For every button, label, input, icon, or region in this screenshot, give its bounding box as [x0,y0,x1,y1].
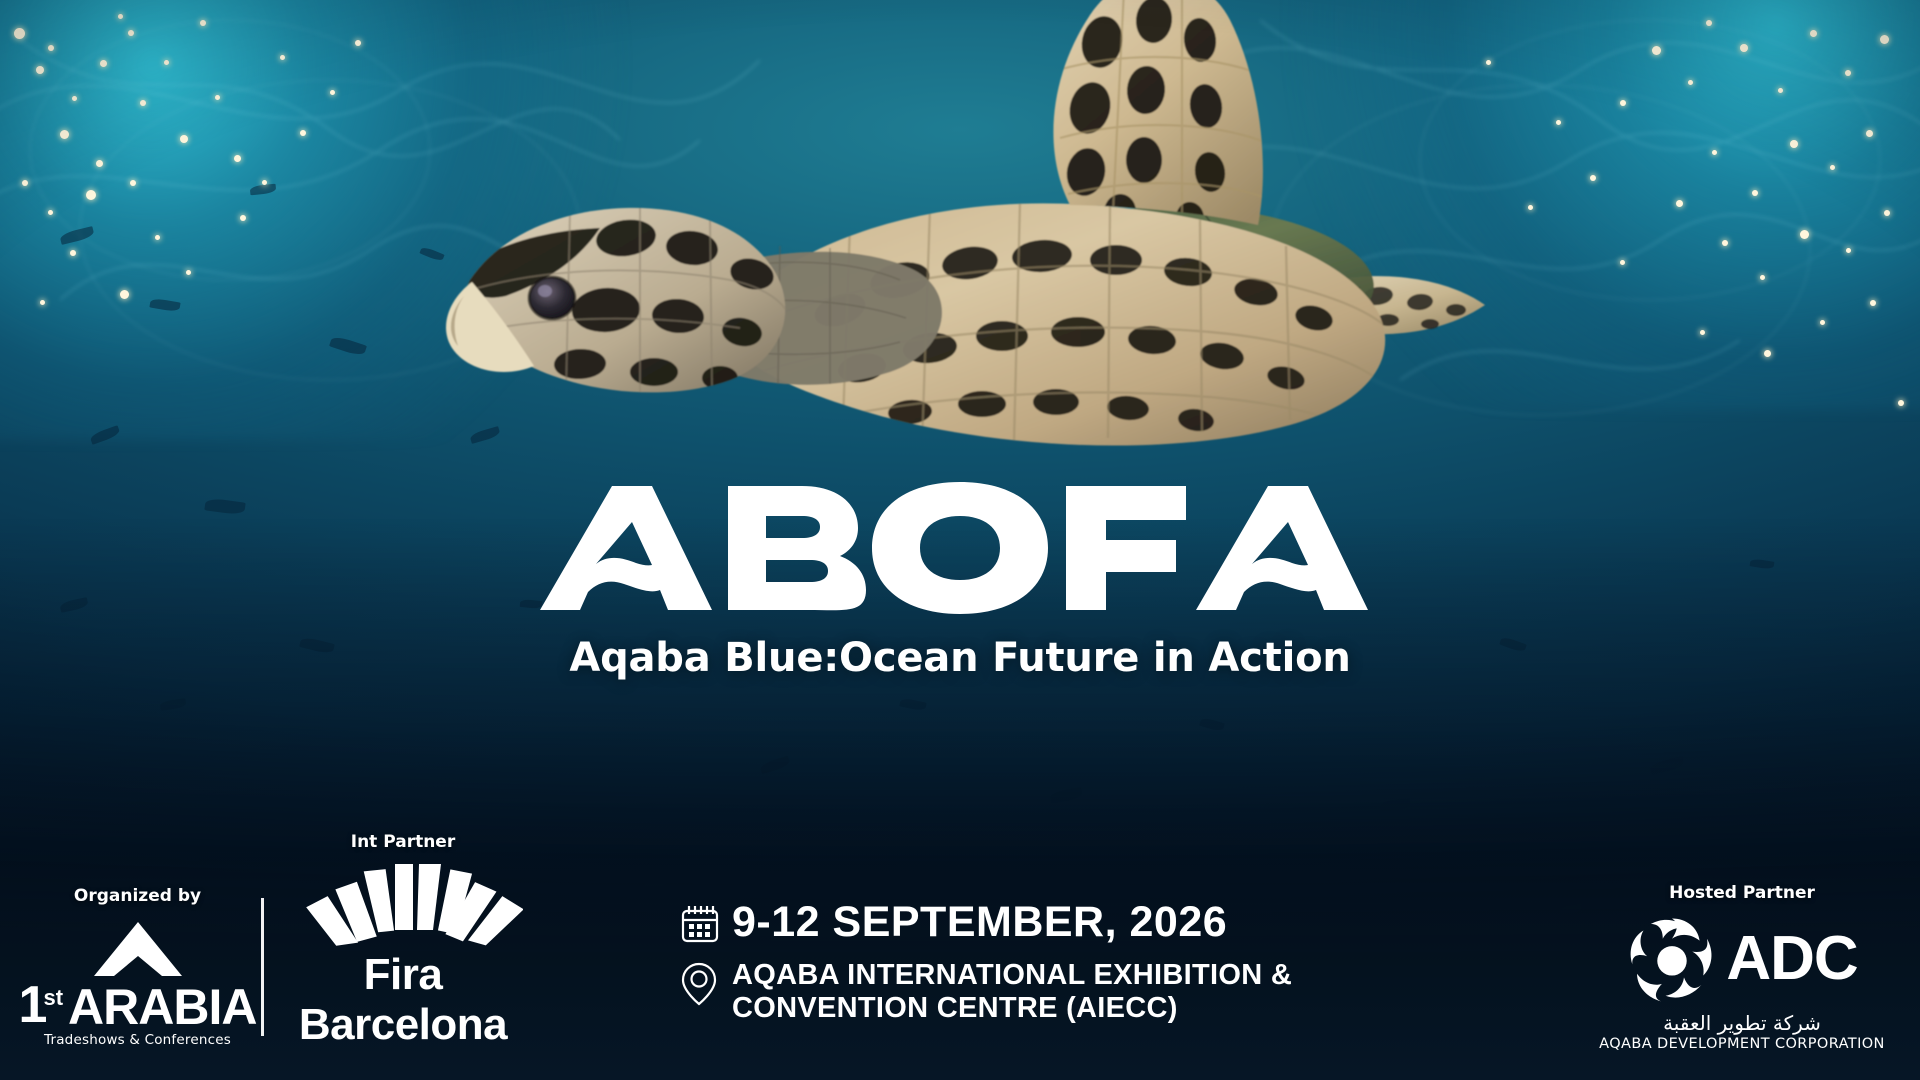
calendar-icon [680,901,732,945]
organizer-kicker: Organized by [30,886,245,906]
arabia-numeral: 1 [19,982,46,1030]
arabia-logo: 1 st ARABIA Tradeshows & Conferences [30,920,245,1048]
fira-barcelona-name: Fira Barcelona [283,950,523,1050]
event-details: 9-12 SEPTEMBER, 2026 AQABA INTERNATIONAL… [680,901,1440,1040]
map-pin-icon [680,959,732,1007]
adc-name-arabic: شركة تطوير العقبة [1592,1011,1892,1035]
swirl-aperture-mark-icon [1626,913,1718,1005]
tagline: Aqaba Blue:Ocean Future in Action [0,635,1920,681]
fan-rays-mark-icon [283,862,523,946]
event-date: 9-12 SEPTEMBER, 2026 [732,901,1227,944]
event-venue-row: AQABA INTERNATIONAL EXHIBITION & CONVENT… [680,959,1440,1026]
adc-name-english: AQABA DEVELOPMENT CORPORATION [1592,1036,1892,1052]
chevron-up-mark-icon [92,920,184,980]
event-venue-line-2: CONVENTION CENTRE (AIECC) [732,992,1292,1026]
banner-footer: Organized by 1 st ARABIA Tradeshows & Co… [0,840,1920,1080]
adc-abbreviation: ADC [1726,931,1857,987]
hosted-partner-kicker: Hosted Partner [1592,883,1892,903]
organizer-block: Organized by 1 st ARABIA Tradeshows & Co… [30,886,245,1048]
event-venue: AQABA INTERNATIONAL EXHIBITION & CONVENT… [732,959,1292,1026]
event-banner: Aqaba Blue:Ocean Future in Action Organi… [0,0,1920,1080]
hosted-partner-block: Hosted Partner ADC شركة تطوير العقبة [1592,883,1892,1052]
event-venue-line-1: AQABA INTERNATIONAL EXHIBITION & [732,959,1292,993]
int-partner-kicker: Int Partner [283,832,523,852]
partner-divider [261,898,264,1036]
adc-logo: ADC [1592,913,1892,1005]
arabia-wordmark: 1 st ARABIA [19,982,257,1030]
arabia-name: ARABIA [68,984,256,1030]
arabia-ordinal: st [43,988,63,1008]
event-date-row: 9-12 SEPTEMBER, 2026 [680,901,1440,945]
int-partner-block: Int Partner Fira Barcelona [283,832,523,1050]
arabia-subtitle: Tradeshows & Conferences [44,1032,231,1048]
